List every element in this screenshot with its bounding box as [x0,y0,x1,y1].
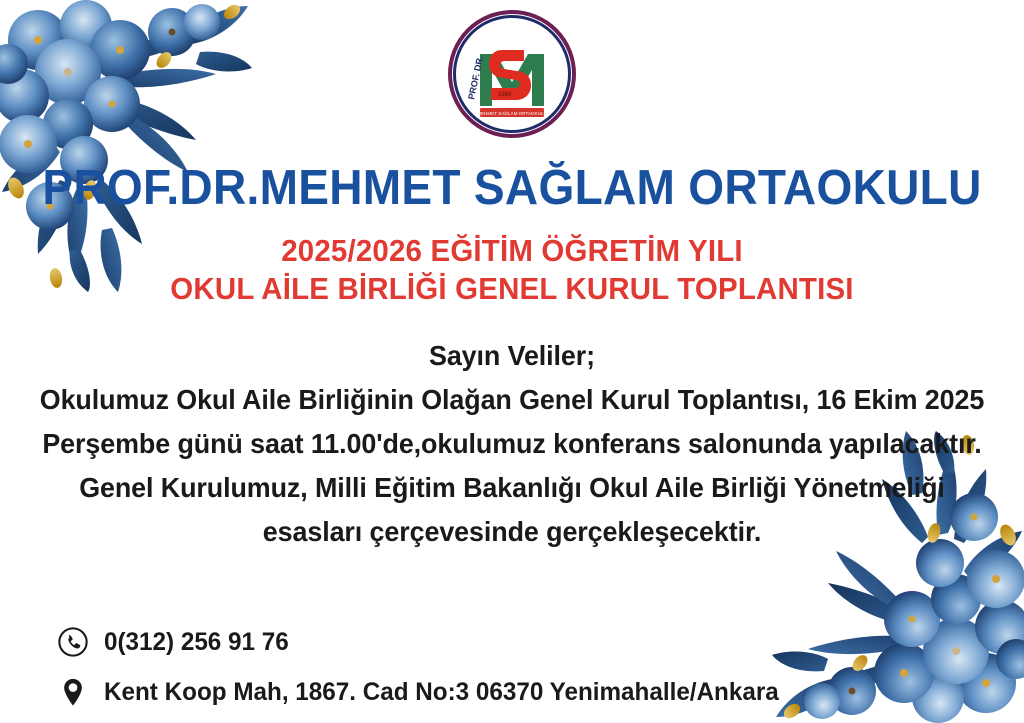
body-line-1: Okulumuz Okul Aile Birliğinin Olağan Gen… [20,378,1003,422]
body-block: Sayın Veliler; Okulumuz Okul Aile Birliğ… [0,334,1024,554]
address-text: Kent Koop Mah, 1867. Cad No:3 06370 Yeni… [104,677,779,707]
contact-row-address: Kent Koop Mah, 1867. Cad No:3 06370 Yeni… [56,675,800,709]
phone-icon [56,625,90,659]
page-title: PROF.DR.MEHMET SAĞLAM ORTAOKULU [31,160,994,216]
contact-row-phone: 0(312) 256 91 76 [56,625,800,659]
location-pin-icon [56,675,90,709]
school-logo: PROF. DR. 1988 MEHMET SAĞLAM ORTAOKULU [446,8,578,140]
subtitle-line-academic-year: 2025/2026 EĞİTİM ÖĞRETİM YILI [26,232,999,270]
svg-text:MEHMET SAĞLAM ORTAOKULU: MEHMET SAĞLAM ORTAOKULU [477,110,547,116]
body-line-3: Genel Kurulumuz, Milli Eğitim Bakanlığı … [20,466,1003,510]
body-line-salutation: Sayın Veliler; [20,334,1003,378]
logo-banner: MEHMET SAĞLAM ORTAOKULU [477,108,547,117]
body-line-2: Perşembe günü saat 11.00'de,okulumuz kon… [20,422,1003,466]
contact-info: 0(312) 256 91 76 Kent Koop Mah, 1867. Ca… [56,625,800,709]
subtitle-block: 2025/2026 EĞİTİM ÖĞRETİM YILI OKUL AİLE … [0,232,1024,308]
logo-year: 1988 [498,92,512,98]
body-line-4: esasları çerçevesinde gerçekleşecektir. [20,510,1003,554]
phone-number-text: 0(312) 256 91 76 [104,627,289,657]
announcement-poster: PROF. DR. 1988 MEHMET SAĞLAM ORTAOKULU P… [0,0,1024,723]
subtitle-line-meeting-name: OKUL AİLE BİRLİĞİ GENEL KURUL TOPLANTISI [26,270,999,308]
